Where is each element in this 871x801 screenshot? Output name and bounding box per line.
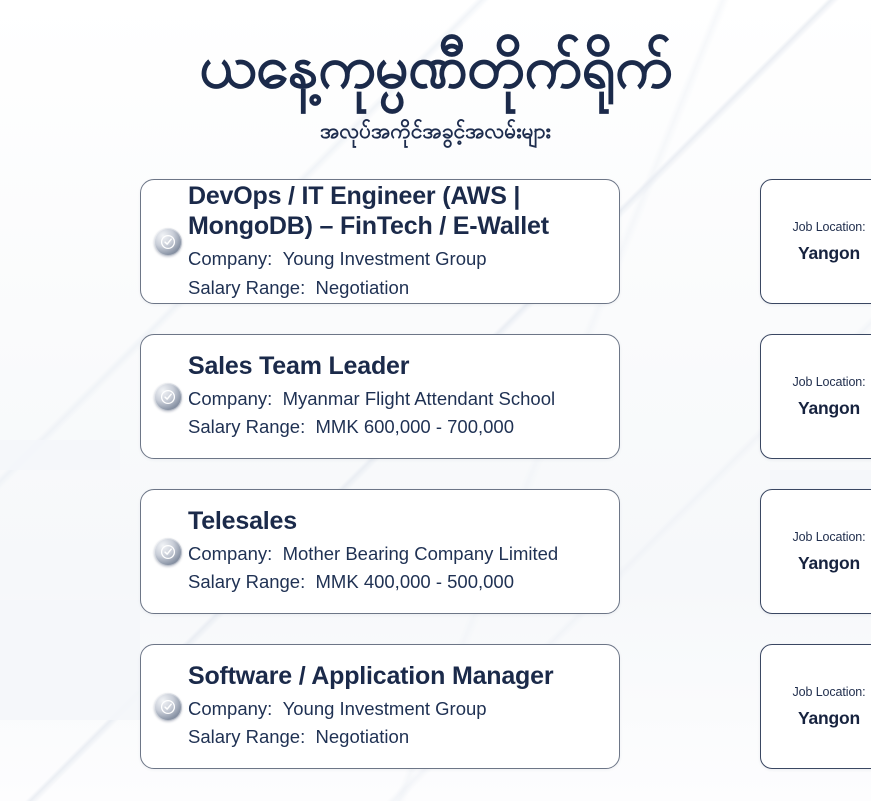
page-subtitle: အလုပ်အကိုင်အခွင့်အလမ်းများ bbox=[0, 118, 871, 149]
company-label: Company: bbox=[188, 698, 272, 719]
company-label: Company: bbox=[188, 248, 272, 269]
job-company-line: Company: Young Investment Group bbox=[188, 245, 760, 274]
job-location-label: Job Location: bbox=[792, 220, 865, 234]
salary-label: Salary Range: bbox=[188, 571, 305, 592]
page-title: ယနေ့ကုမ္ပဏီတိုက်ရိုက် bbox=[0, 34, 871, 100]
job-card-content: TelesalesCompany: Mother Bearing Company… bbox=[188, 489, 760, 614]
job-location-value: Yangon bbox=[798, 398, 860, 419]
job-card[interactable]: Software / Application ManagerCompany: Y… bbox=[140, 644, 760, 769]
job-location-label: Job Location: bbox=[792, 685, 865, 699]
job-title: Sales Team Leader bbox=[188, 351, 760, 382]
salary-value: Negotiation bbox=[316, 277, 410, 298]
job-location-value: Yangon bbox=[798, 708, 860, 729]
salary-value: MMK 600,000 - 700,000 bbox=[316, 416, 515, 437]
job-title: Software / Application Manager bbox=[188, 661, 760, 692]
job-salary-line: Salary Range: Negotiation bbox=[188, 723, 760, 752]
verified-check-icon bbox=[154, 383, 182, 411]
job-location-box[interactable]: Job Location:Yangon bbox=[760, 334, 871, 459]
job-location-label: Job Location: bbox=[792, 375, 865, 389]
verified-check-icon bbox=[154, 693, 182, 721]
job-title: DevOps / IT Engineer (AWS |MongoDB) – Fi… bbox=[188, 181, 760, 242]
job-list: DevOps / IT Engineer (AWS |MongoDB) – Fi… bbox=[0, 179, 871, 769]
job-location-box[interactable]: Job Location:Yangon bbox=[760, 179, 871, 304]
job-title: Telesales bbox=[188, 506, 760, 537]
job-card[interactable]: DevOps / IT Engineer (AWS |MongoDB) – Fi… bbox=[140, 179, 760, 304]
job-company-line: Company: Myanmar Flight Attendant School bbox=[188, 385, 760, 414]
job-company-line: Company: Mother Bearing Company Limited bbox=[188, 540, 760, 569]
salary-label: Salary Range: bbox=[188, 416, 305, 437]
company-value: Young Investment Group bbox=[283, 698, 487, 719]
job-title-line: DevOps / IT Engineer (AWS | bbox=[188, 181, 760, 212]
company-label: Company: bbox=[188, 543, 272, 564]
verified-check-icon bbox=[154, 538, 182, 566]
company-value: Young Investment Group bbox=[283, 248, 487, 269]
job-card-content: Sales Team LeaderCompany: Myanmar Flight… bbox=[188, 334, 760, 459]
job-company-line: Company: Young Investment Group bbox=[188, 695, 760, 724]
job-salary-line: Salary Range: MMK 600,000 - 700,000 bbox=[188, 413, 760, 442]
job-location-value: Yangon bbox=[798, 553, 860, 574]
job-card-content: Software / Application ManagerCompany: Y… bbox=[188, 644, 760, 769]
job-location-value: Yangon bbox=[798, 243, 860, 264]
salary-value: Negotiation bbox=[316, 726, 410, 747]
job-card[interactable]: TelesalesCompany: Mother Bearing Company… bbox=[140, 489, 760, 614]
salary-label: Salary Range: bbox=[188, 726, 305, 747]
company-value: Myanmar Flight Attendant School bbox=[283, 388, 556, 409]
job-title-line: MongoDB) – FinTech / E-Wallet bbox=[188, 211, 760, 242]
job-location-label: Job Location: bbox=[792, 530, 865, 544]
salary-value: MMK 400,000 - 500,000 bbox=[316, 571, 515, 592]
verified-check-icon bbox=[154, 228, 182, 256]
job-location-box[interactable]: Job Location:Yangon bbox=[760, 644, 871, 769]
salary-label: Salary Range: bbox=[188, 277, 305, 298]
job-location-box[interactable]: Job Location:Yangon bbox=[760, 489, 871, 614]
job-salary-line: Salary Range: Negotiation bbox=[188, 274, 760, 303]
job-card[interactable]: Sales Team LeaderCompany: Myanmar Flight… bbox=[140, 334, 760, 459]
company-label: Company: bbox=[188, 388, 272, 409]
job-salary-line: Salary Range: MMK 400,000 - 500,000 bbox=[188, 568, 760, 597]
page-header: ယနေ့ကုမ္ပဏီတိုက်ရိုက် အလုပ်အကိုင်အခွင့်အ… bbox=[0, 0, 871, 149]
job-card-content: DevOps / IT Engineer (AWS |MongoDB) – Fi… bbox=[188, 179, 760, 304]
company-value: Mother Bearing Company Limited bbox=[283, 543, 559, 564]
